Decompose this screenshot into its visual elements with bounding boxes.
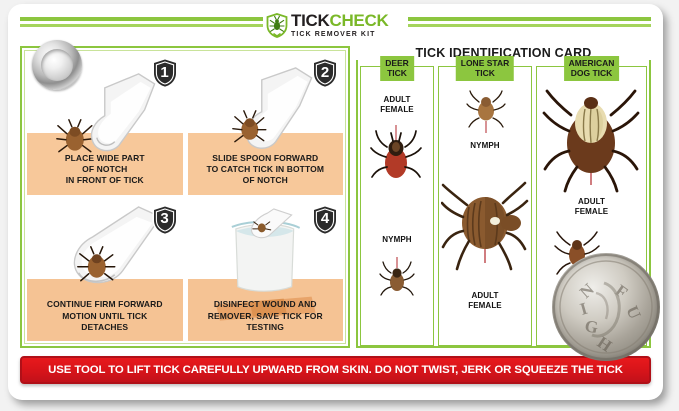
card-header: TICKCHECK TICK REMOVER KIT (8, 4, 663, 44)
brand-name: TICKCHECK (291, 12, 388, 29)
header-rule-left-1 (20, 17, 263, 21)
svg-text:G: G (583, 316, 599, 337)
tick-on-skin-icon (57, 120, 93, 152)
step-1-number: 1 (151, 57, 179, 89)
lone-star-adult-female-label: ADULTFEMALE (439, 291, 531, 310)
step-1-badge: 1 (151, 57, 179, 89)
id-column-american-dog-tick: AMERICANDOG TICK ADULTFEMALE (536, 66, 647, 346)
step-3-caption: CONTINUE FIRM FORWARDMOTION UNTIL TICKDE… (27, 299, 183, 333)
svg-text:N: N (576, 279, 598, 302)
quarter-coin-scale-reference: N I G H F U (552, 253, 660, 361)
deer-tick-nymph-label: NYMPH (361, 235, 433, 245)
grommet-eyelet (32, 40, 82, 90)
coin-relief-icon: N I G H F U (552, 253, 660, 361)
tick-shield-icon (266, 13, 288, 38)
header-rule-right-1 (408, 17, 651, 21)
id-column-lone-star-tick: LONE STARTICK NYMPH (438, 66, 532, 346)
step-2-caption: SLIDE SPOON FORWARDTO CATCH TICK IN BOTT… (188, 153, 344, 187)
screenshot-stage: TICKCHECK TICK REMOVER KIT (0, 0, 679, 411)
id-column-label-deer-tick: DEERTICK (380, 56, 414, 81)
warning-text: USE TOOL TO LIFT TICK CAREFULLY UPWARD F… (48, 364, 623, 376)
brand-name-tick: TICK (291, 11, 329, 30)
deer-tick-adult-female-icon (367, 117, 425, 189)
deer-tick-adult-female-label: ADULTFEMALE (361, 95, 433, 114)
id-column-label-lone-star-tick: LONE STARTICK (456, 56, 514, 81)
step-3-cell: 3 CONTINUE FIRM FORWARDMOTION UNTIL TICK… (27, 200, 183, 342)
step-3-number: 3 (151, 204, 179, 236)
tick-spoon-tool-icon (92, 74, 155, 151)
brand-logo: TICKCHECK TICK REMOVER KIT (266, 8, 406, 42)
step-4-cell: 4 DISINFECT WOUND ANDREMOVER, SAVE TICK … (188, 200, 344, 342)
steps-grid: 1 PLACE WIDE PARTOF NOTCHIN FRONT OF TIC… (27, 53, 343, 341)
american-dog-tick-adult-female-icon (541, 81, 641, 193)
step-2-cell: 2 SLIDE SPOON FORWARDTO CATCH TICK IN BO… (188, 53, 344, 195)
tick-spoon-tool-icon (74, 206, 160, 282)
lone-star-adult-female-icon (441, 171, 529, 281)
step-4-number: 4 (311, 204, 339, 236)
lone-star-nymph-icon (465, 89, 507, 139)
step-4-caption: DISINFECT WOUND ANDREMOVER, SAVE TICK FO… (188, 299, 344, 333)
header-rule-right-2 (408, 24, 651, 27)
step-3-badge: 3 (151, 204, 179, 236)
svg-text:U: U (622, 303, 644, 322)
instruction-steps-panel: 1 PLACE WIDE PARTOF NOTCHIN FRONT OF TIC… (20, 46, 350, 348)
step-1-caption: PLACE WIDE PARTOF NOTCHIN FRONT OF TICK (27, 153, 183, 187)
brand-wordmark: TICKCHECK TICK REMOVER KIT (291, 12, 388, 38)
step-4-badge: 4 (311, 204, 339, 236)
lone-star-nymph-label: NYMPH (439, 141, 531, 151)
tick-remover-instruction-card: TICKCHECK TICK REMOVER KIT (8, 4, 663, 400)
brand-name-check: CHECK (329, 11, 388, 30)
step-2-number: 2 (311, 57, 339, 89)
id-column-deer-tick: DEERTICK ADULTFEMALE NYMPH (360, 66, 434, 346)
header-rule-left-2 (20, 24, 263, 27)
american-dog-tick-adult-female-label: ADULTFEMALE (537, 197, 646, 216)
deer-tick-nymph-icon (378, 253, 416, 301)
id-column-label-american-dog-tick: AMERICANDOG TICK (564, 56, 620, 81)
step-2-badge: 2 (311, 57, 339, 89)
brand-tagline: TICK REMOVER KIT (291, 31, 388, 38)
